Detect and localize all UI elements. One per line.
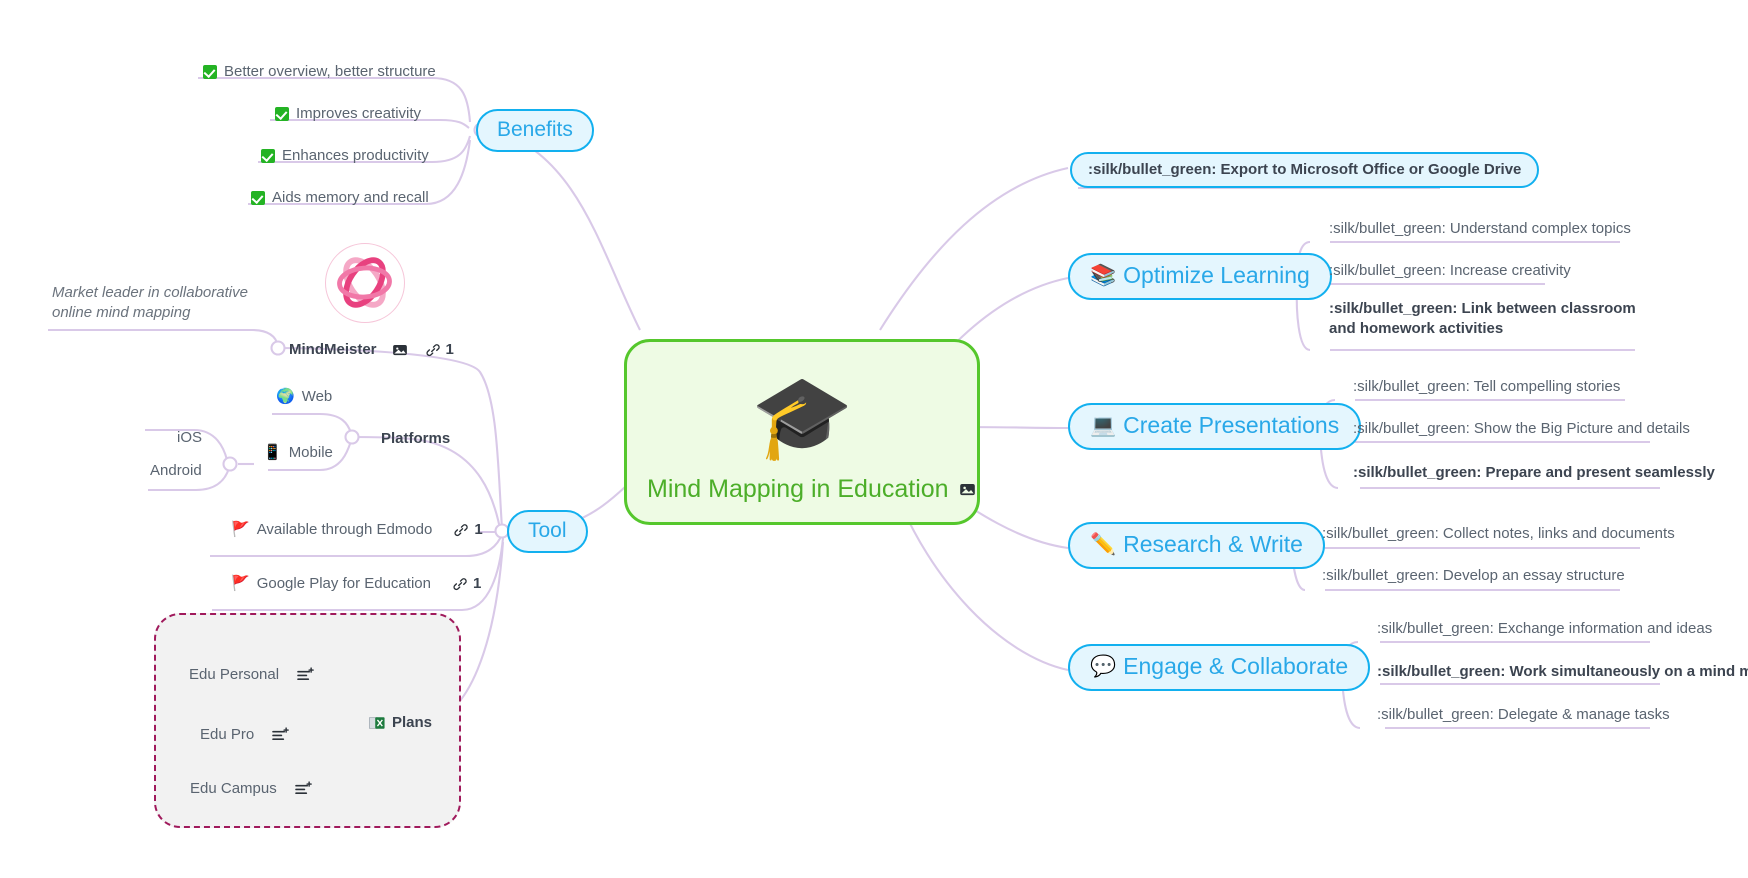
branch-engage-collaborate[interactable]: 💬 Engage & Collaborate <box>1068 644 1370 691</box>
speech-balloon-icon: 💬 <box>1090 656 1116 677</box>
research-write-item-2[interactable]: :silk/bullet_green: Develop an essay str… <box>1322 566 1625 586</box>
platform-mobile-android[interactable]: Android <box>150 461 202 481</box>
create-presentations-item-1[interactable]: :silk/bullet_green: Tell compelling stor… <box>1353 377 1620 397</box>
engage-collaborate-item-3-label: :silk/bullet_green: Delegate & manage ta… <box>1377 705 1670 725</box>
plan-edu-personal-label: Edu Personal <box>189 665 279 685</box>
benefit-item-3[interactable]: Enhances productivity <box>261 146 429 166</box>
tool-plans-label: Plans <box>392 713 432 733</box>
books-icon: 📚 <box>1090 265 1116 286</box>
image-icon[interactable] <box>392 342 408 358</box>
link-icon[interactable] <box>452 576 468 592</box>
branch-benefits[interactable]: Benefits <box>476 109 594 152</box>
branch-benefits-label: Benefits <box>497 119 573 140</box>
tool-google-play-label: Google Play for Education <box>257 574 431 594</box>
branch-research-write-label: Research & Write <box>1123 533 1303 556</box>
engage-collaborate-item-2[interactable]: :silk/bullet_green: Work simultaneously … <box>1377 662 1748 682</box>
platform-mobile-android-label: Android <box>150 461 202 481</box>
mobile-phone-icon: 📱 <box>263 445 282 460</box>
benefit-item-1-label: Better overview, better structure <box>224 62 436 82</box>
mindmeister-note-text: Market leader in collaborative online mi… <box>52 283 248 323</box>
branch-optimize-learning-label: Optimize Learning <box>1123 264 1310 287</box>
create-presentations-item-2[interactable]: :silk/bullet_green: Show the Big Picture… <box>1353 419 1690 439</box>
optimize-learning-item-1-label: :silk/bullet_green: Understand complex t… <box>1329 219 1631 239</box>
benefit-item-3-label: Enhances productivity <box>282 146 429 166</box>
green-check-icon <box>275 107 289 121</box>
branch-research-write[interactable]: ✏️ Research & Write <box>1068 522 1325 569</box>
note-add-icon[interactable] <box>295 781 312 796</box>
green-flag-icon: 🚩 <box>231 522 250 537</box>
tool-plans[interactable]: Plans <box>369 713 432 733</box>
green-flag-icon: 🚩 <box>231 576 250 591</box>
benefit-item-4[interactable]: Aids memory and recall <box>251 188 429 208</box>
central-topic[interactable]: 🎓 Mind Mapping in Education <box>624 339 980 525</box>
branch-create-presentations[interactable]: 💻 Create Presentations <box>1068 403 1361 450</box>
plan-edu-pro-label: Edu Pro <box>200 725 254 745</box>
platform-web-label: Web <box>302 387 333 407</box>
benefit-item-1[interactable]: Better overview, better structure <box>203 62 436 82</box>
create-presentations-item-2-label: :silk/bullet_green: Show the Big Picture… <box>1353 419 1690 439</box>
optimize-learning-item-1[interactable]: :silk/bullet_green: Understand complex t… <box>1329 219 1631 239</box>
pencil-icon: ✏️ <box>1090 534 1116 555</box>
branch-create-presentations-label: Create Presentations <box>1123 414 1339 437</box>
benefit-item-2-label: Improves creativity <box>296 104 421 124</box>
tool-edmodo[interactable]: 🚩 Available through Edmodo 1 <box>231 520 483 540</box>
create-presentations-item-3[interactable]: :silk/bullet_green: Prepare and present … <box>1353 463 1715 483</box>
engage-collaborate-item-1-label: :silk/bullet_green: Exchange information… <box>1377 619 1712 639</box>
benefit-item-2[interactable]: Improves creativity <box>275 104 421 124</box>
plan-edu-campus-label: Edu Campus <box>190 779 277 799</box>
optimize-learning-item-2[interactable]: :silk/bullet_green: Increase creativity <box>1329 261 1571 281</box>
optimize-learning-item-2-label: :silk/bullet_green: Increase creativity <box>1329 261 1571 281</box>
research-write-item-1[interactable]: :silk/bullet_green: Collect notes, links… <box>1322 524 1675 544</box>
link-icon[interactable] <box>453 522 469 538</box>
tool-google-play[interactable]: 🚩 Google Play for Education 1 <box>231 574 481 594</box>
green-check-icon <box>261 149 275 163</box>
platform-mobile-ios-label: iOS <box>177 428 202 448</box>
globe-icon: 🌍 <box>276 389 295 404</box>
tool-edmodo-label: Available through Edmodo <box>257 520 433 540</box>
platform-mobile[interactable]: 📱 Mobile <box>263 443 333 463</box>
platforms-label: Platforms <box>381 429 450 449</box>
platform-mobile-label: Mobile <box>289 443 333 463</box>
mindmeister-note[interactable]: Market leader in collaborative online mi… <box>52 283 252 323</box>
note-add-icon[interactable] <box>272 727 289 742</box>
research-write-item-1-label: :silk/bullet_green: Collect notes, links… <box>1322 524 1675 544</box>
spreadsheet-icon <box>369 716 385 730</box>
platform-mobile-ios[interactable]: iOS <box>177 428 202 448</box>
optimize-learning-item-3-label: :silk/bullet_green: Link between classro… <box>1329 299 1649 339</box>
central-topic-label-row: Mind Mapping in Education <box>627 477 977 522</box>
graduation-cap-icon: 🎓 <box>627 342 977 477</box>
green-check-icon <box>251 191 265 205</box>
branch-export-note[interactable]: :silk/bullet_green: Export to Microsoft … <box>1070 152 1539 188</box>
image-icon[interactable] <box>959 481 976 498</box>
tool-mindmeister[interactable]: MindMeister 1 <box>289 340 454 360</box>
laptop-icon: 💻 <box>1090 415 1116 436</box>
mindmeister-logo <box>325 243 405 323</box>
branch-export-note-label: :silk/bullet_green: Export to Microsoft … <box>1088 162 1521 177</box>
mindmeister-link-count: 1 <box>446 340 454 360</box>
benefit-item-4-label: Aids memory and recall <box>272 188 429 208</box>
optimize-learning-item-3[interactable]: :silk/bullet_green: Link between classro… <box>1329 299 1649 339</box>
link-icon[interactable] <box>425 342 441 358</box>
central-topic-label: Mind Mapping in Education <box>647 477 949 502</box>
branch-tool[interactable]: Tool <box>507 510 588 553</box>
engage-collaborate-item-1[interactable]: :silk/bullet_green: Exchange information… <box>1377 619 1712 639</box>
green-check-icon <box>203 65 217 79</box>
plan-edu-personal[interactable]: Edu Personal <box>189 665 314 685</box>
engage-collaborate-item-2-label: :silk/bullet_green: Work simultaneously … <box>1377 662 1748 682</box>
create-presentations-item-3-label: :silk/bullet_green: Prepare and present … <box>1353 463 1715 483</box>
plan-edu-campus[interactable]: Edu Campus <box>190 779 312 799</box>
plan-edu-pro[interactable]: Edu Pro <box>200 725 289 745</box>
tool-google-play-link-count: 1 <box>473 574 481 594</box>
mindmeister-label: MindMeister <box>289 340 377 360</box>
create-presentations-item-1-label: :silk/bullet_green: Tell compelling stor… <box>1353 377 1620 397</box>
research-write-item-2-label: :silk/bullet_green: Develop an essay str… <box>1322 566 1625 586</box>
branch-tool-label: Tool <box>528 520 567 541</box>
platform-web[interactable]: 🌍 Web <box>276 387 332 407</box>
branch-engage-collaborate-label: Engage & Collaborate <box>1123 655 1348 678</box>
tool-platforms[interactable]: Platforms <box>381 429 450 449</box>
branch-optimize-learning[interactable]: 📚 Optimize Learning <box>1068 253 1332 300</box>
note-add-icon[interactable] <box>297 667 314 682</box>
mindmap-canvas[interactable]: 🎓 Mind Mapping in Education Benefits Bet… <box>0 0 1748 878</box>
tool-edmodo-link-count: 1 <box>474 520 482 540</box>
engage-collaborate-item-3[interactable]: :silk/bullet_green: Delegate & manage ta… <box>1377 705 1670 725</box>
